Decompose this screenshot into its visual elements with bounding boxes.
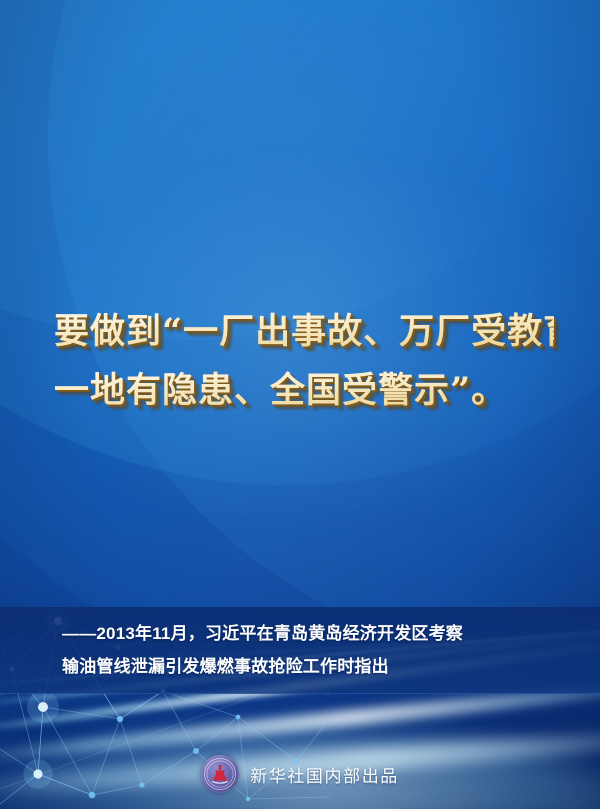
quote-line-1: 要做到“一厂出事故、万厂受教育， <box>54 303 554 360</box>
attribution-block: ——2013年11月，习近平在青岛黄岛经济开发区考察 输油管线泄漏引发爆燃事故抢… <box>62 617 562 683</box>
quote-poster: 要做到“一厂出事故、万厂受教育， 一地有隐患、全国受警示”。 ——2013年11… <box>0 0 600 809</box>
footer-text: 新华社国内部出品 <box>250 762 399 787</box>
footer: 新华社国内部出品 <box>0 755 600 793</box>
attribution-line-1: ——2013年11月，习近平在青岛黄岛经济开发区考察 <box>62 617 562 650</box>
attribution-line-2: 输油管线泄漏引发爆燃事故抢险工作时指出 <box>62 650 562 683</box>
quote-line-2: 一地有隐患、全国受警示”。 <box>54 362 554 419</box>
xinhua-emblem-icon <box>201 755 239 793</box>
quote-block: 要做到“一厂出事故、万厂受教育， 一地有隐患、全国受警示”。 <box>54 303 554 419</box>
